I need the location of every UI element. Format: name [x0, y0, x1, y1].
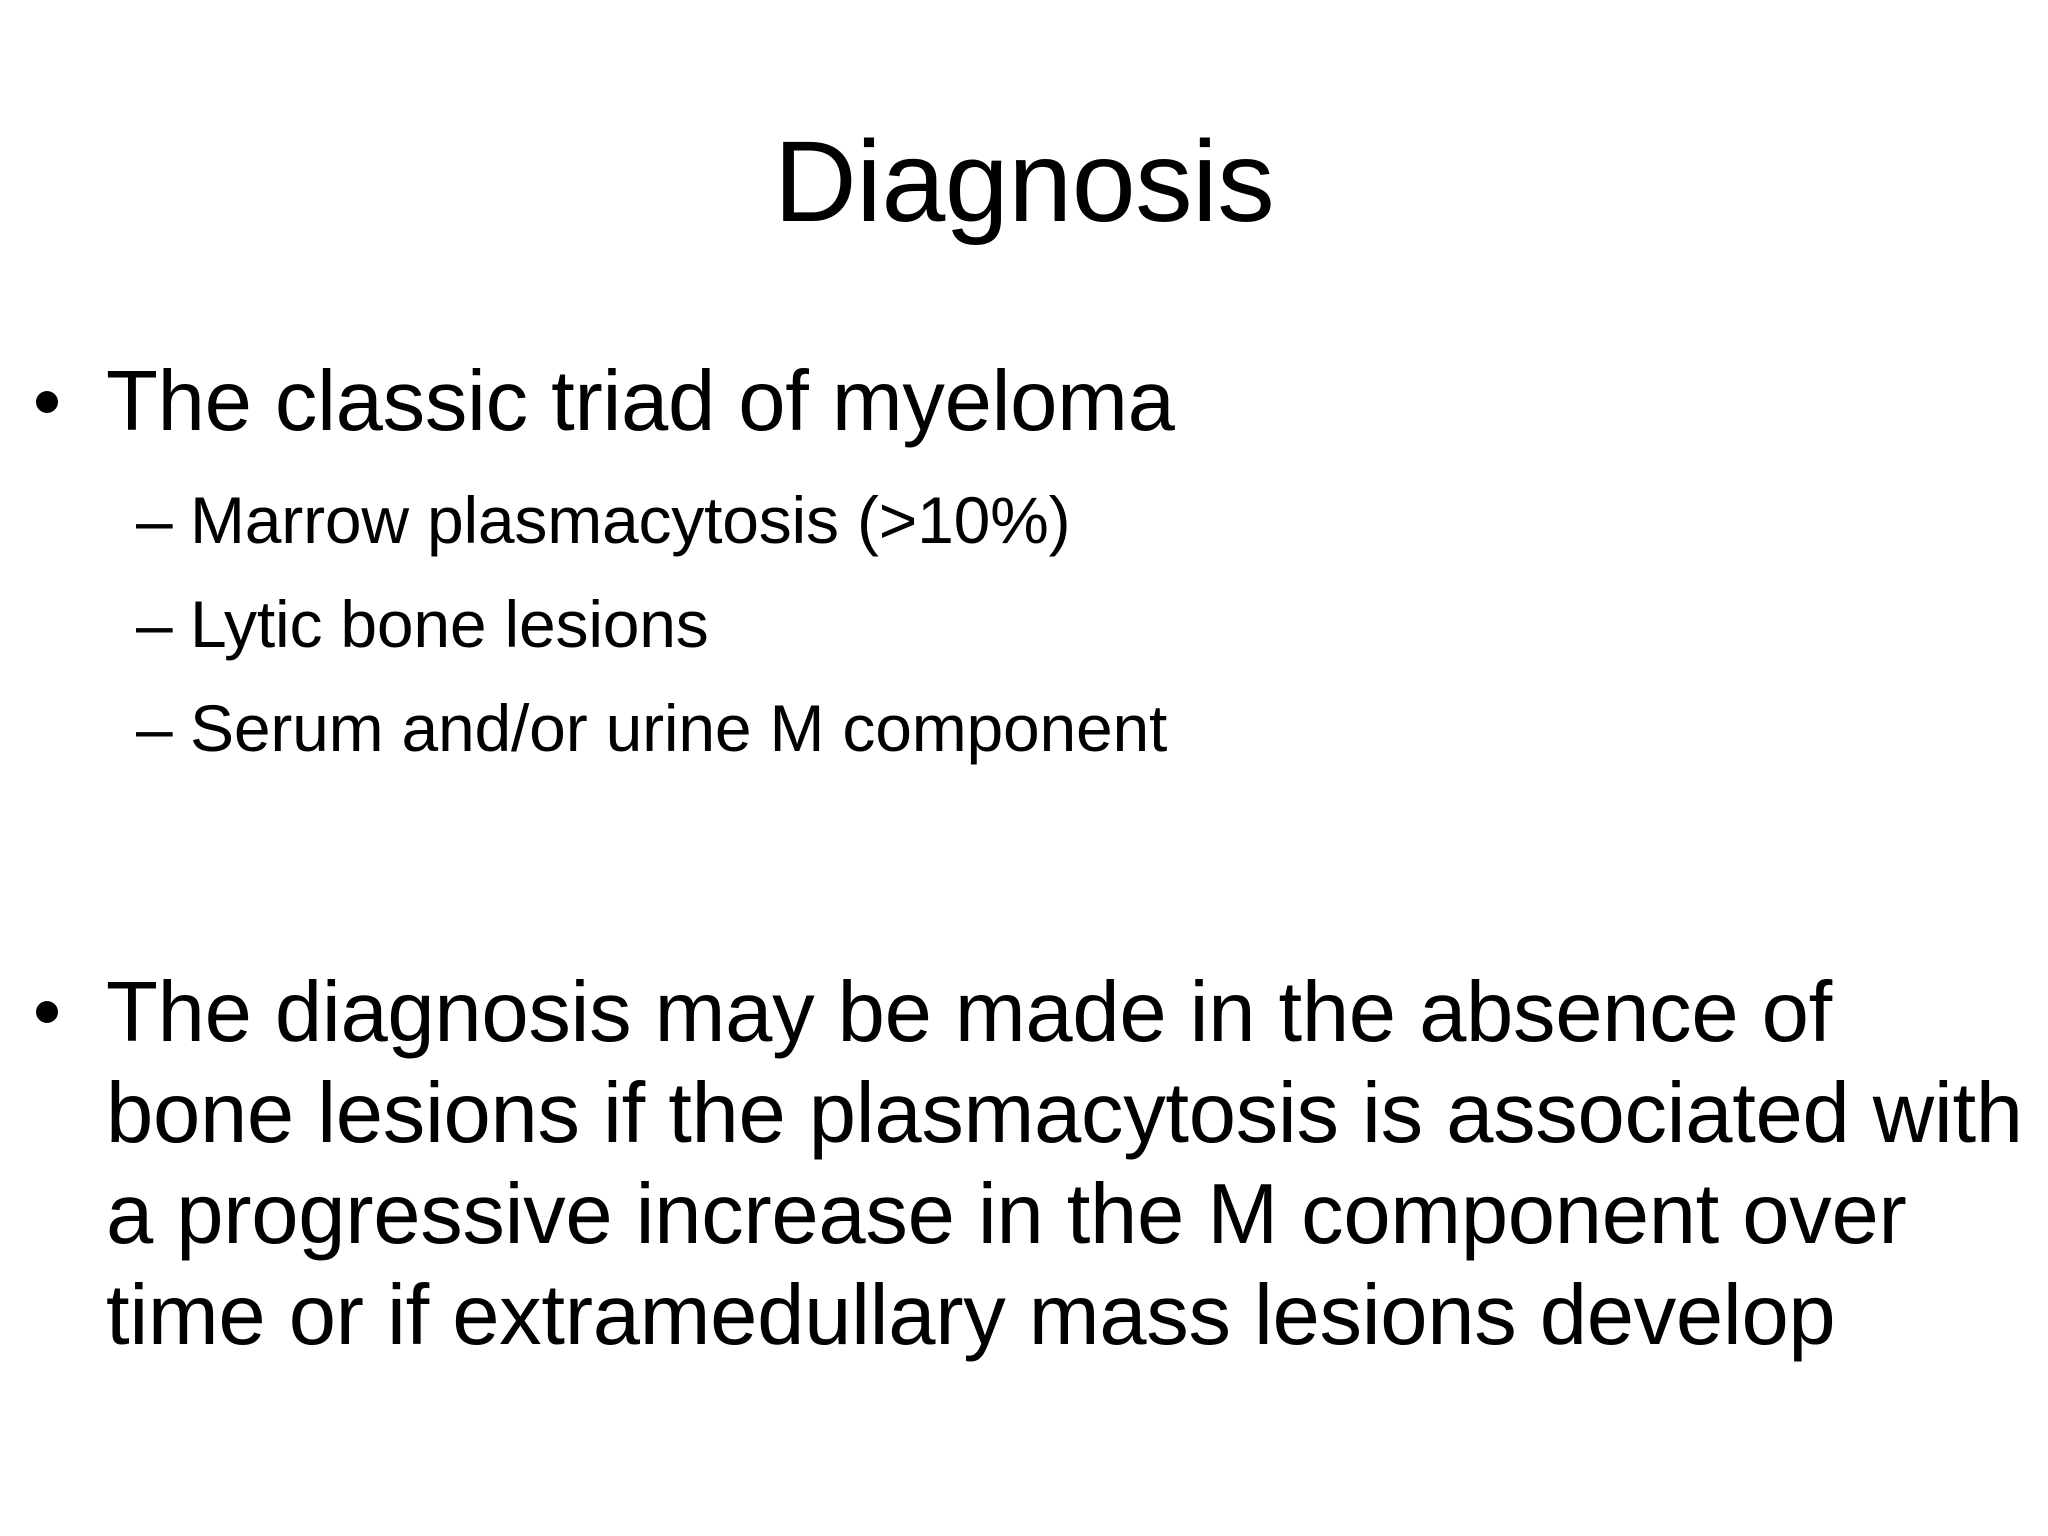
- bullet-level1-label: The classic triad of myeloma: [106, 352, 2030, 452]
- slide-body-placeholder[interactable]: The classic triad of myeloma – Marrow pl…: [18, 352, 2030, 1366]
- bullet-level2-item[interactable]: – Serum and/or urine M component: [18, 676, 2030, 780]
- bullet-level1-label: The diagnosis may be made in the absence…: [106, 962, 2036, 1366]
- paragraph-spacer: [18, 780, 2030, 962]
- presentation-slide: Diagnosis The classic triad of myeloma –…: [0, 0, 2048, 1536]
- bullet-level1-item[interactable]: The diagnosis may be made in the absence…: [18, 962, 2030, 1366]
- bullet-dot-icon: [26, 962, 86, 1062]
- bullet-level1-item[interactable]: The classic triad of myeloma: [18, 352, 2030, 452]
- bullet-dash-icon: –: [136, 572, 173, 676]
- bullet-level2-label: Serum and/or urine M component: [190, 676, 2030, 780]
- bullet-level2-label: Lytic bone lesions: [190, 572, 2030, 676]
- bullet-dash-icon: –: [136, 468, 173, 572]
- bullet-level2-item[interactable]: – Lytic bone lesions: [18, 572, 2030, 676]
- sub-bullet-group: – Marrow plasmacytosis (>10%) – Lytic bo…: [18, 468, 2030, 780]
- slide-title: Diagnosis: [0, 120, 2048, 244]
- bullet-dash-icon: –: [136, 676, 173, 780]
- bullet-level2-item[interactable]: – Marrow plasmacytosis (>10%): [18, 468, 2030, 572]
- bullet-level2-label: Marrow plasmacytosis (>10%): [190, 468, 2030, 572]
- bullet-dot-icon: [26, 352, 86, 452]
